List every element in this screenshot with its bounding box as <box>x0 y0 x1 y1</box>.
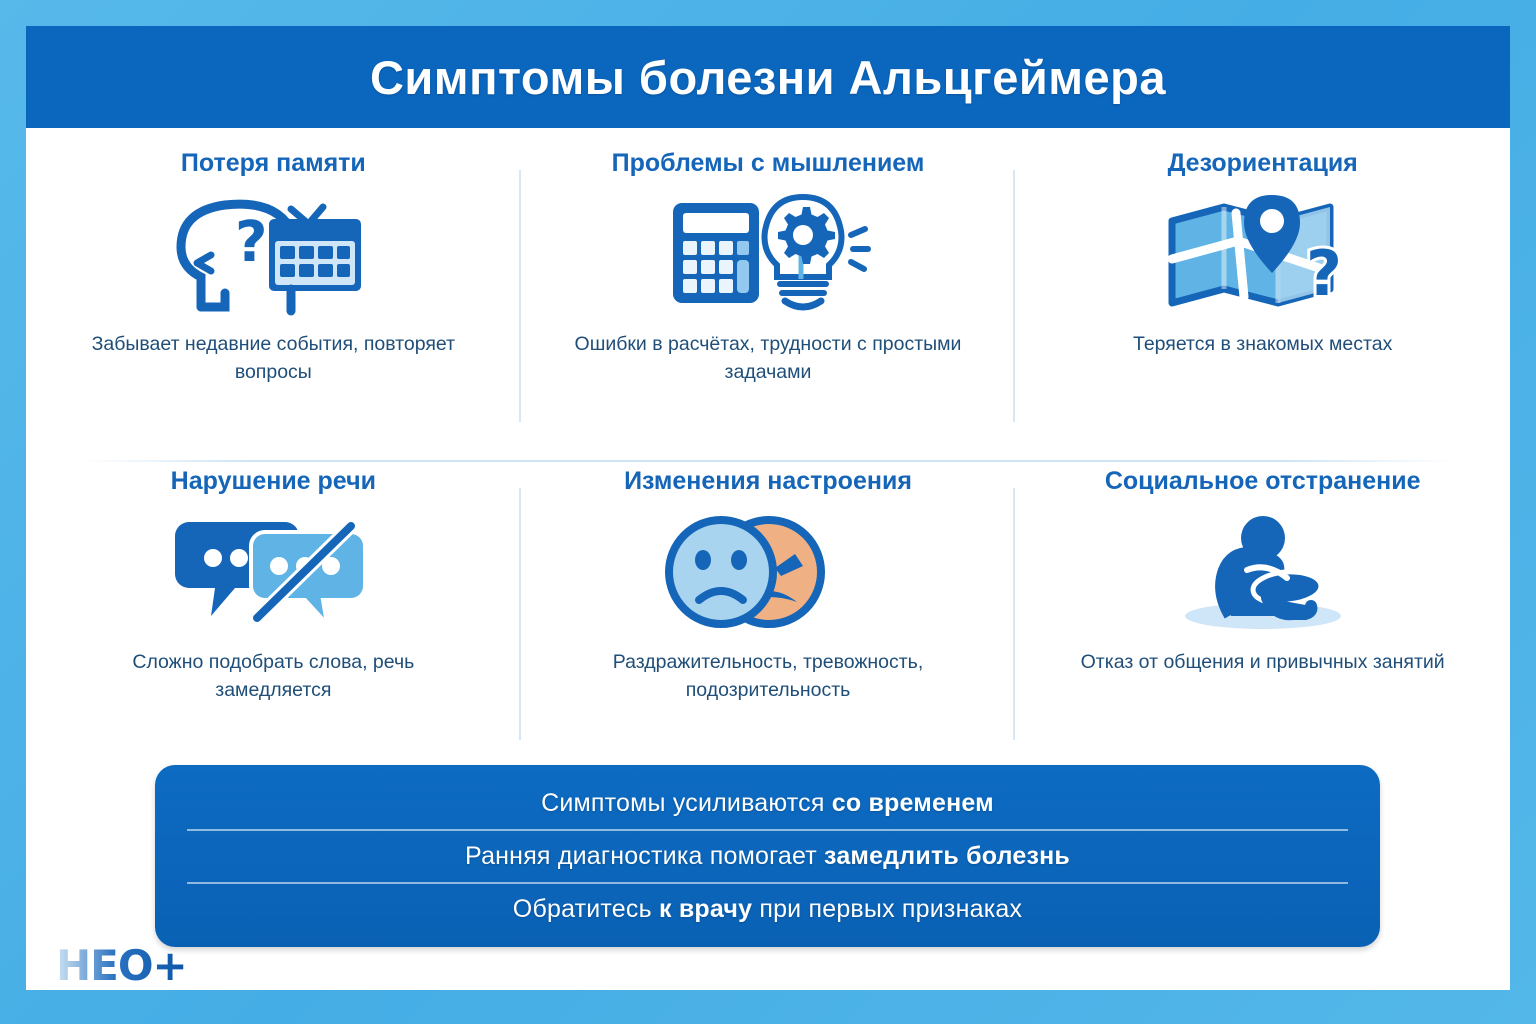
key-message-3: Обратитесь к врачу при первых признаках <box>155 884 1380 935</box>
symptom-title: Потеря памяти <box>181 150 366 178</box>
header-bar: Симптомы болезни Альцгеймера <box>26 26 1510 128</box>
key-message-2: Ранняя диагностика помогает замедлить бо… <box>155 831 1380 882</box>
key-message-1-bold: со временем <box>832 789 994 817</box>
key-message-3-bold: к врачу <box>659 895 752 923</box>
symptom-description: Забывает недавние события, повторяет воп… <box>73 330 473 387</box>
key-message-3-tail: при первых признаках <box>752 895 1022 923</box>
calculator-lightbulb-gear-icon <box>663 184 873 324</box>
symptom-title: Проблемы с мышлением <box>612 150 925 178</box>
sitting-person-withdrawn-icon <box>1163 502 1363 642</box>
symptoms-grid: Потеря памяти ? <box>26 128 1510 758</box>
poster-card: Симптомы болезни Альцгеймера Потеря памя… <box>26 26 1510 990</box>
symptom-title: Социальное отстранение <box>1105 468 1421 496</box>
symptom-card-disorientation[interactable]: Дезориентация ? Теряется в знакомых <box>1015 140 1510 440</box>
key-message-3-plain: Обратитесь <box>513 895 659 923</box>
symptom-title: Нарушение речи <box>171 468 376 496</box>
symptom-card-thinking-problems[interactable]: Проблемы с мышлением <box>521 140 1016 440</box>
head-question-calendar-icon: ? <box>173 184 373 324</box>
symptom-row-2: Нарушение речи <box>26 458 1510 758</box>
sad-angry-faces-icon <box>663 502 873 642</box>
brand-logo: НЕО+ <box>56 941 187 990</box>
svg-text:?: ? <box>1306 237 1342 310</box>
symptom-card-speech-impairment[interactable]: Нарушение речи <box>26 458 521 758</box>
key-message-2-bold: замедлить болезнь <box>824 842 1070 870</box>
symptom-description: Теряется в знакомых местах <box>1133 330 1392 358</box>
symptom-description: Сложно подобрать слова, речь замедляется <box>73 648 473 705</box>
symptom-card-social-withdrawal[interactable]: Социальное отстранение Отказ от общения … <box>1015 458 1510 758</box>
key-message-1: Симптомы усиливаются со временем <box>155 778 1380 829</box>
symptom-description: Отказ от общения и привычных занятий <box>1081 648 1445 676</box>
symptom-title: Дезориентация <box>1168 150 1358 178</box>
key-message-2-plain: Ранняя диагностика помогает <box>465 842 824 870</box>
symptom-row-1: Потеря памяти ? <box>26 140 1510 440</box>
svg-text:?: ? <box>235 210 267 275</box>
key-messages-panel: Симптомы усиливаются со временем Ранняя … <box>155 765 1380 947</box>
key-message-1-plain: Симптомы усиливаются <box>541 789 832 817</box>
symptom-description: Ошибки в расчётах, трудности с простыми … <box>568 330 968 387</box>
symptom-card-memory-loss[interactable]: Потеря памяти ? <box>26 140 521 440</box>
speech-bubbles-crossed-icon <box>173 502 373 642</box>
symptom-title: Изменения настроения <box>624 468 912 496</box>
symptom-description: Раздражительность, тревожность, подозрит… <box>568 648 968 705</box>
map-pin-question-icon: ? <box>1158 184 1368 324</box>
page-title: Симптомы болезни Альцгеймера <box>370 50 1166 105</box>
symptom-card-mood-changes[interactable]: Изменения настроения Раздражительность, … <box>521 458 1016 758</box>
